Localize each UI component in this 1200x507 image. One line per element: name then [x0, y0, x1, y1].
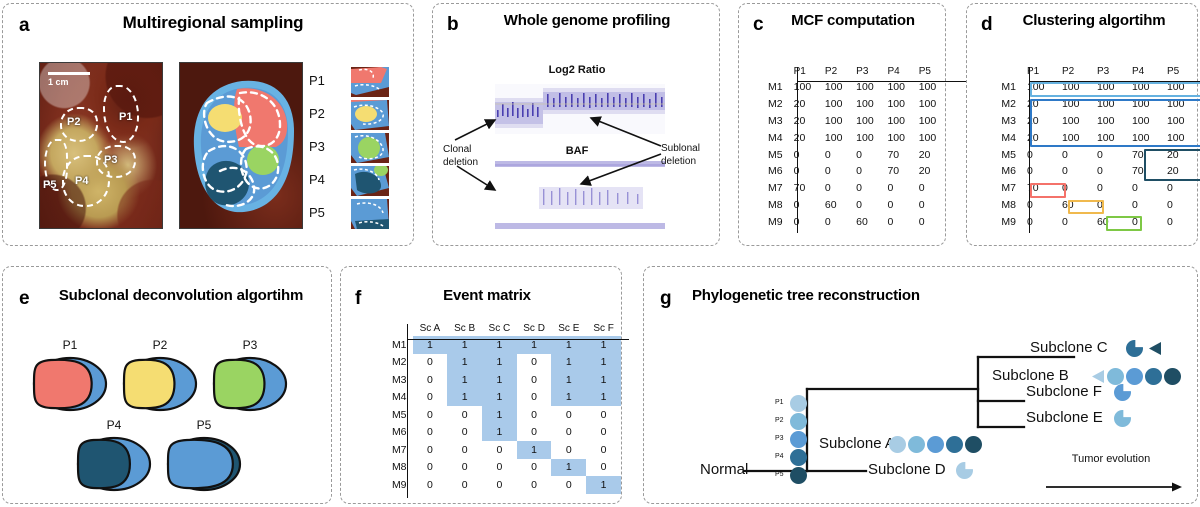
cell-m8-sc-d: 0: [517, 459, 552, 477]
cell-m8-p2: 60: [1057, 197, 1092, 214]
cell-m2-p1: 20: [1022, 96, 1057, 113]
cell-label-p3: P3: [220, 338, 280, 352]
row-header-m1: M1: [765, 79, 789, 96]
mcf-table: P1P2P3P4P5M1100100100100100M220100100100…: [765, 66, 945, 230]
table-row: M8060000: [765, 197, 945, 214]
schematic-regions-svg: [180, 63, 303, 229]
deconvolution-cell-p2: P2: [121, 339, 199, 411]
cell-m5-p5: 20: [1162, 146, 1197, 163]
table-header-row: P1P2P3P4P5: [765, 66, 945, 79]
cell-m3-sc-b: 1: [447, 371, 482, 389]
event-matrix-table: Sc ASc BSc CSc DSc ESc FM1111111M2011011…: [377, 323, 621, 494]
table-row: M8000010: [377, 459, 621, 477]
column-header-p2: P2: [820, 66, 851, 79]
legend-label-p2: P2: [309, 106, 325, 121]
cell-m9-p1: 0: [1022, 213, 1057, 230]
baf-scatter-plot: [495, 159, 665, 231]
cell-m8-p5: 0: [914, 197, 945, 214]
tumor-schematic: [179, 62, 303, 229]
cell-m5-p4: 70: [1127, 146, 1162, 163]
tree-marker-full: [1107, 368, 1124, 385]
cell-m5-p2: 0: [1057, 146, 1092, 163]
tumor-evolution-label: Tumor evolution: [1046, 453, 1176, 465]
cell-m9-p2: 0: [820, 213, 851, 230]
cell-m3-sc-c: 1: [482, 371, 517, 389]
cell-m5-sc-e: 0: [551, 406, 586, 424]
table-vertical-rule: [1029, 67, 1030, 233]
row-header-m9: M9: [765, 213, 789, 230]
cell-m6-p3: 0: [851, 163, 882, 180]
cell-m3-sc-d: 0: [517, 371, 552, 389]
cell-m8-sc-c: 0: [482, 459, 517, 477]
table-row: M7700000: [997, 180, 1197, 197]
tumor-photograph: 1 cm P1 P2 P3 P4 P5: [39, 62, 163, 229]
cell-m4-p5: 100: [1162, 129, 1197, 146]
tree-marker-full: [908, 436, 925, 453]
table-corner-cell: [765, 66, 789, 79]
table-row: M220100100100100: [997, 96, 1197, 113]
region-label-p5: P5: [43, 179, 56, 191]
legend-thumbnail-p3: [351, 133, 389, 163]
cell-m5-p1: 0: [1022, 146, 1057, 163]
cell-m5-sc-b: 0: [447, 406, 482, 424]
cell-m8-sc-f: 0: [586, 459, 621, 477]
cell-shape-p2: [121, 356, 199, 412]
cell-m6-p1: 0: [1022, 163, 1057, 180]
column-header-sc-f: Sc F: [586, 323, 621, 336]
cell-m5-p1: 0: [789, 146, 820, 163]
cell-m6-sc-b: 0: [447, 424, 482, 442]
cell-m4-p2: 100: [820, 129, 851, 146]
cell-m4-p4: 100: [1127, 129, 1162, 146]
region-label-p1: P1: [119, 111, 132, 123]
tree-marker-full: [1164, 368, 1181, 385]
cell-m4-p3: 100: [851, 129, 882, 146]
row-header-m8: M8: [765, 197, 789, 214]
table-row: M50007020: [997, 146, 1197, 163]
table-row: M3011011: [377, 371, 621, 389]
region-label-p3: P3: [104, 154, 117, 166]
cell-label-p5: P5: [174, 418, 234, 432]
cell-m8-sc-b: 0: [447, 459, 482, 477]
panel-d-clustering-algorithm: d Clustering algortihm P1P2P3P4P5M110010…: [966, 3, 1198, 246]
cell-m3-p2: 100: [820, 113, 851, 130]
cell-m2-p3: 100: [851, 96, 882, 113]
column-header-sc-d: Sc D: [517, 323, 552, 336]
region-label-p4: P4: [75, 175, 88, 187]
table-row: M4011011: [377, 389, 621, 407]
cell-label-p1: P1: [40, 338, 100, 352]
panel-a-letter: a: [19, 16, 30, 35]
table-row: M2011011: [377, 354, 621, 372]
cell-m6-sc-e: 0: [551, 424, 586, 442]
cell-m7-p3: 0: [851, 180, 882, 197]
row-header-m6: M6: [765, 163, 789, 180]
deconvolution-cell-p1: P1: [31, 339, 109, 411]
cell-m8-p1: 0: [789, 197, 820, 214]
cell-m2-sc-c: 1: [482, 354, 517, 372]
cell-m8-p4: 0: [1127, 197, 1162, 214]
panel-e-letter: e: [19, 289, 30, 308]
cell-m3-p3: 100: [1092, 113, 1127, 130]
cell-m4-p3: 100: [1092, 129, 1127, 146]
panel-a-multiregional-sampling: a Multiregional sampling 1 cm P1 P2 P3 P…: [2, 3, 414, 246]
event-matrix-wrapper: Sc ASc BSc CSc DSc ESc FM1111111M2011011…: [377, 323, 621, 494]
panel-c-letter: c: [753, 15, 764, 34]
tree-legend-label-p2: P2: [775, 417, 784, 424]
cell-label-p2: P2: [130, 338, 190, 352]
annotation-clonal-deletion: Clonal deletion: [443, 144, 495, 169]
cell-m7-p4: 0: [882, 180, 913, 197]
cell-shape-p4: [75, 436, 153, 492]
legend-thumbnail-p1: [351, 67, 389, 97]
cell-m9-p3: 60: [851, 213, 882, 230]
baf-track-title: BAF: [495, 145, 659, 157]
cell-m6-p3: 0: [1092, 163, 1127, 180]
cell-m4-sc-e: 1: [551, 389, 586, 407]
cell-m5-p3: 0: [1092, 146, 1127, 163]
cell-shape-p5: [165, 436, 243, 492]
panel-a-sample-legend: P1 P2: [309, 64, 409, 229]
row-header-m3: M3: [997, 113, 1022, 130]
cell-m5-p3: 0: [851, 146, 882, 163]
legend-label-p1: P1: [309, 73, 325, 88]
panel-d-letter: d: [981, 15, 993, 34]
cell-m2-sc-a: 0: [413, 354, 448, 372]
table-row: M8060000: [997, 197, 1197, 214]
cell-m8-sc-e: 1: [551, 459, 586, 477]
cell-m8-sc-a: 0: [413, 459, 448, 477]
cell-m7-sc-e: 0: [551, 441, 586, 459]
log2-ratio-scatter-plot: [495, 78, 665, 140]
cell-m7-sc-c: 0: [482, 441, 517, 459]
clustering-table: P1P2P3P4P5M1100100100100100M220100100100…: [997, 66, 1197, 230]
cell-m7-p3: 0: [1092, 180, 1127, 197]
table-row: M420100100100100: [765, 129, 945, 146]
row-header-m9: M9: [997, 213, 1022, 230]
cell-m4-sc-d: 0: [517, 389, 552, 407]
panel-f-title: Event matrix: [397, 288, 577, 305]
panel-f-event-matrix: f Event matrix Sc ASc BSc CSc DSc ESc FM…: [340, 266, 622, 504]
column-header-sc-e: Sc E: [551, 323, 586, 336]
table-horizontal-rule: [797, 81, 987, 82]
cell-m4-p1: 20: [1022, 129, 1057, 146]
table-row: M420100100100100: [997, 129, 1197, 146]
cell-m5-p4: 70: [882, 146, 913, 163]
cell-m2-p5: 100: [1162, 96, 1197, 113]
table-row: M7000100: [377, 441, 621, 459]
column-header-sc-c: Sc C: [482, 323, 517, 336]
tree-marker-full: [889, 436, 906, 453]
table-header-row: P1P2P3P4P5: [997, 66, 1197, 79]
table-horizontal-rule: [1029, 81, 1200, 82]
table-row: M6001000: [377, 424, 621, 442]
cell-m6-sc-a: 0: [413, 424, 448, 442]
cell-m9-p3: 60: [1092, 213, 1127, 230]
panel-b-whole-genome-profiling: b Whole genome profiling Log2 Ratio: [432, 3, 720, 246]
panel-c-mcf-computation: c MCF computation P1P2P3P4P5M11001001001…: [738, 3, 946, 246]
cell-m4-sc-a: 0: [413, 389, 448, 407]
table-corner-cell: [997, 66, 1022, 79]
cell-m4-p4: 100: [882, 129, 913, 146]
table-row: M60007020: [997, 163, 1197, 180]
cell-m8-p2: 60: [820, 197, 851, 214]
log2-ratio-track-title: Log2 Ratio: [495, 64, 659, 76]
cell-m2-p2: 100: [1057, 96, 1092, 113]
legend-label-p4: P4: [309, 172, 325, 187]
row-header-m3: M3: [765, 113, 789, 130]
panel-e-subclonal-deconvolution: e Subclonal deconvolution algortihm P1P2…: [2, 266, 332, 504]
cell-shape-p1: [31, 356, 109, 412]
legend-thumbnail-p2: [351, 100, 389, 130]
cell-shape-p3: [211, 356, 289, 412]
cell-m2-p4: 100: [1127, 96, 1162, 113]
cell-m8-p5: 0: [1162, 197, 1197, 214]
cell-m5-sc-d: 0: [517, 406, 552, 424]
tree-legend-dot-p4: [790, 449, 807, 466]
table-row: M60007020: [765, 163, 945, 180]
cell-m7-p1: 70: [789, 180, 820, 197]
legend-label-p5: P5: [309, 205, 325, 220]
tree-marker-full: [946, 436, 963, 453]
tree-marker-full: [927, 436, 944, 453]
cell-m8-p3: 0: [1092, 197, 1127, 214]
cell-m2-p2: 100: [820, 96, 851, 113]
cell-m9-sc-d: 0: [517, 476, 552, 494]
row-header-m6: M6: [997, 163, 1022, 180]
cell-m7-p4: 0: [1127, 180, 1162, 197]
cell-m6-p1: 0: [789, 163, 820, 180]
column-header-sc-a: Sc A: [413, 323, 448, 336]
cell-m3-p5: 100: [1162, 113, 1197, 130]
cell-m5-p5: 20: [914, 146, 945, 163]
table-row: M320100100100100: [997, 113, 1197, 130]
cell-m2-p1: 20: [789, 96, 820, 113]
cell-m7-sc-a: 0: [413, 441, 448, 459]
tree-node-label-subclone-e: Subclone E: [1026, 409, 1103, 426]
table-row: M9006000: [997, 213, 1197, 230]
cell-m7-p2: 0: [1057, 180, 1092, 197]
scale-bar: [48, 72, 90, 75]
panel-b-letter: b: [447, 15, 459, 34]
cell-m9-sc-e: 0: [551, 476, 586, 494]
column-header-p1: P1: [789, 66, 820, 79]
cell-m3-p4: 100: [1127, 113, 1162, 130]
row-header-m4: M4: [765, 129, 789, 146]
cell-m7-p2: 0: [820, 180, 851, 197]
table-row: M50007020: [765, 146, 945, 163]
panel-d-title: Clustering algortihm: [1003, 13, 1185, 30]
row-header-m4: M4: [997, 129, 1022, 146]
cell-m7-p1: 70: [1022, 180, 1057, 197]
cell-m3-sc-a: 0: [413, 371, 448, 389]
tree-legend-dot-p5: [790, 467, 807, 484]
cell-m9-sc-f: 1: [586, 476, 621, 494]
legend-row-p5: P5: [309, 199, 409, 229]
tree-legend-label-p3: P3: [775, 435, 784, 442]
evolution-arrow-head: [1172, 483, 1182, 492]
cell-m4-sc-f: 1: [586, 389, 621, 407]
tree-node-label-subclone-d: Subclone D: [868, 461, 946, 478]
cell-m3-p1: 20: [1022, 113, 1057, 130]
tree-marker-full: [965, 436, 982, 453]
cell-m9-p4: 0: [882, 213, 913, 230]
cell-m2-p5: 100: [914, 96, 945, 113]
panel-g-phylogenetic-tree: g Phylogenetic tree reconstruction Norma…: [643, 266, 1198, 504]
baf-points: [495, 159, 665, 231]
table-row: M220100100100100: [765, 96, 945, 113]
legend-thumbnail-p5: [351, 199, 389, 229]
table-horizontal-rule: [407, 339, 629, 340]
region-shape-p3: [247, 145, 279, 175]
legend-row-p3: P3: [309, 133, 409, 163]
legend-row-p2: P2: [309, 100, 409, 130]
cell-m6-p4: 70: [1127, 163, 1162, 180]
cell-m8-p1: 0: [1022, 197, 1057, 214]
cell-m2-sc-e: 1: [551, 354, 586, 372]
cell-m7-sc-b: 0: [447, 441, 482, 459]
cell-m3-sc-f: 1: [586, 371, 621, 389]
tree-marker-full: [1145, 368, 1162, 385]
cell-m3-p1: 20: [789, 113, 820, 130]
cell-m9-p1: 0: [789, 213, 820, 230]
column-header-p5: P5: [1162, 66, 1197, 79]
cell-m6-p2: 0: [1057, 163, 1092, 180]
cell-m9-sc-c: 0: [482, 476, 517, 494]
column-header-p4: P4: [1127, 66, 1162, 79]
cell-m6-p5: 20: [1162, 163, 1197, 180]
scale-bar-label: 1 cm: [48, 77, 69, 87]
cell-m5-sc-c: 1: [482, 406, 517, 424]
legend-thumbnail-p4: [351, 166, 389, 196]
cell-label-p4: P4: [84, 418, 144, 432]
row-header-m1: M1: [997, 79, 1022, 96]
tree-legend-label-p4: P4: [775, 453, 784, 460]
deconvolution-cell-p4: P4: [75, 419, 153, 491]
cell-m7-p5: 0: [1162, 180, 1197, 197]
tree-node-label-subclone-a: Subclone A: [819, 435, 895, 452]
table-vertical-rule: [407, 324, 408, 498]
panel-f-letter: f: [355, 289, 361, 308]
table-row: M9000001: [377, 476, 621, 494]
cell-m2-sc-d: 0: [517, 354, 552, 372]
tree-legend-label-p1: P1: [775, 399, 784, 406]
column-header-p3: P3: [1092, 66, 1127, 79]
tree-marker-full: [1126, 368, 1143, 385]
cell-m5-sc-a: 0: [413, 406, 448, 424]
panel-b-title: Whole genome profiling: [469, 13, 705, 30]
tree-legend-dot-p2: [790, 413, 807, 430]
cell-m2-sc-b: 1: [447, 354, 482, 372]
row-header-m8: M8: [997, 197, 1022, 214]
cell-m6-p2: 0: [820, 163, 851, 180]
cell-m6-sc-d: 0: [517, 424, 552, 442]
row-header-m5: M5: [997, 146, 1022, 163]
table-row: M320100100100100: [765, 113, 945, 130]
cell-m7-p5: 0: [914, 180, 945, 197]
column-header-p5: P5: [914, 66, 945, 79]
deconvolution-cell-p5: P5: [165, 419, 243, 491]
cell-m8-p4: 0: [882, 197, 913, 214]
cell-m2-p3: 100: [1092, 96, 1127, 113]
table-header-row: Sc ASc BSc CSc DSc ESc F: [377, 323, 621, 336]
column-header-p4: P4: [882, 66, 913, 79]
cell-m3-sc-e: 1: [551, 371, 586, 389]
table-row: M9006000: [765, 213, 945, 230]
mcf-table-wrapper: P1P2P3P4P5M1100100100100100M220100100100…: [765, 66, 945, 230]
row-header-m5: M5: [765, 146, 789, 163]
cell-m4-sc-b: 1: [447, 389, 482, 407]
cell-m3-p4: 100: [882, 113, 913, 130]
cell-m6-p5: 20: [914, 163, 945, 180]
log2-ratio-points: [495, 78, 665, 140]
cell-m2-sc-f: 1: [586, 354, 621, 372]
tree-legend-dot-p3: [790, 431, 807, 448]
tree-legend-dot-p1: [790, 395, 807, 412]
cell-m3-p5: 100: [914, 113, 945, 130]
cell-m4-p1: 20: [789, 129, 820, 146]
cell-m9-p2: 0: [1057, 213, 1092, 230]
row-header-m2: M2: [997, 96, 1022, 113]
cell-m3-p2: 100: [1057, 113, 1092, 130]
cell-m7-sc-f: 0: [586, 441, 621, 459]
column-header-sc-b: Sc B: [447, 323, 482, 336]
cell-m2-p4: 100: [882, 96, 913, 113]
tree-node-label-subclone-c: Subclone C: [1030, 339, 1108, 356]
region-shape-p2: [208, 104, 242, 132]
column-header-p2: P2: [1057, 66, 1092, 79]
cell-m6-p4: 70: [882, 163, 913, 180]
cell-m5-p2: 0: [820, 146, 851, 163]
deconvolution-cell-p3: P3: [211, 339, 289, 411]
row-header-m7: M7: [765, 180, 789, 197]
cell-m9-p5: 0: [914, 213, 945, 230]
panel-c-title: MCF computation: [773, 13, 933, 30]
tree-node-label-subclone-b: Subclone B: [992, 367, 1069, 384]
tree-legend-label-p5: P5: [775, 471, 784, 478]
column-header-p1: P1: [1022, 66, 1057, 79]
cell-m7-sc-d: 1: [517, 441, 552, 459]
cell-m6-sc-f: 0: [586, 424, 621, 442]
legend-row-p1: P1: [309, 67, 409, 97]
cell-m4-sc-c: 1: [482, 389, 517, 407]
cell-m8-p3: 0: [851, 197, 882, 214]
panel-a-title: Multiregional sampling: [43, 14, 383, 33]
cell-m4-p5: 100: [914, 129, 945, 146]
table-vertical-rule: [797, 67, 798, 233]
cell-m3-p3: 100: [851, 113, 882, 130]
cell-m9-sc-b: 0: [447, 476, 482, 494]
cell-m9-p5: 0: [1162, 213, 1197, 230]
tree-root-label: Normal: [700, 461, 748, 478]
row-header-m2: M2: [765, 96, 789, 113]
cell-m9-sc-a: 0: [413, 476, 448, 494]
column-header-p3: P3: [851, 66, 882, 79]
clustering-table-wrapper: P1P2P3P4P5M1100100100100100M220100100100…: [997, 66, 1197, 230]
tree-node-label-subclone-f: Subclone F: [1026, 383, 1102, 400]
annotation-sublonal-deletion: Sublonal deletion: [661, 143, 719, 168]
row-header-m7: M7: [997, 180, 1022, 197]
cell-m6-sc-c: 1: [482, 424, 517, 442]
legend-label-p3: P3: [309, 139, 325, 154]
table-row: M7700000: [765, 180, 945, 197]
cell-m5-sc-f: 0: [586, 406, 621, 424]
cell-m4-p2: 100: [1057, 129, 1092, 146]
region-label-p2: P2: [67, 116, 80, 128]
legend-row-p4: P4: [309, 166, 409, 196]
panel-e-title: Subclonal deconvolution algortihm: [45, 288, 317, 305]
table-row: M5001000: [377, 406, 621, 424]
